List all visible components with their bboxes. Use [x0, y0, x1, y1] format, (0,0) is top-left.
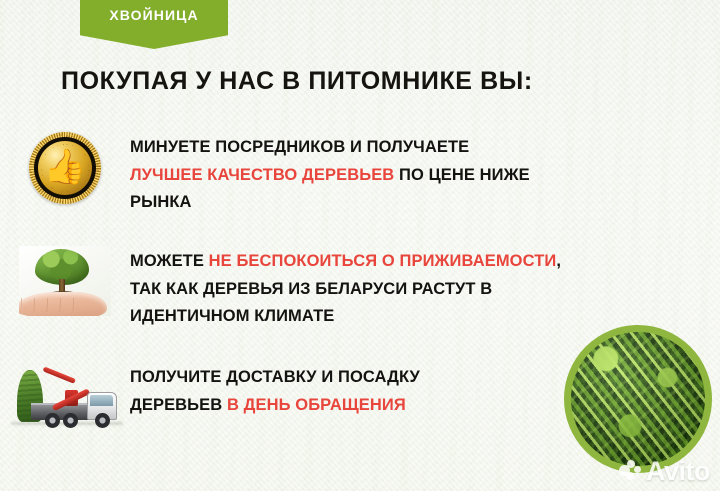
page-title: ПОКУПАЯ У НАС В ПИТОМНИКЕ ВЫ: — [61, 68, 533, 96]
gold-thumbs-up-medal-icon: 👍 — [29, 132, 101, 204]
benefit-icon-slot: 👍 — [0, 126, 130, 204]
benefit-line: РЫНКА — [130, 189, 720, 217]
benefit-icon-slot — [0, 240, 130, 316]
hand-holding-tree-icon — [19, 246, 111, 316]
benefit-text-segment: ИДЕНТИЧНОМ КЛИМАТЕ — [130, 307, 334, 325]
thuja-foliage-photo — [564, 325, 712, 473]
benefit-text-segment: РЫНКА — [130, 193, 192, 211]
benefit-icon-slot — [0, 356, 130, 434]
benefit-text: МОЖЕТЕ НЕ БЕСПОКОИТЬСЯ О ПРИЖИВАЕМОСТИ, … — [130, 240, 720, 331]
benefit-text-highlight: ЛУЧШЕЕ КАЧЕСТВО ДЕРЕВЬЕВ — [130, 166, 394, 184]
benefit-text-segment: МИНУЕТЕ ПОСРЕДНИКОВ И ПОЛУЧАЕТЕ — [130, 138, 469, 156]
benefit-text-segment: ТАК КАК ДЕРЕВЬЯ ИЗ БЕЛАРУСИ РАСТУТ В — [130, 280, 492, 298]
brand-name-label: ХВОЙНИЦА — [109, 8, 198, 22]
benefit-text: МИНУЕТЕ ПОСРЕДНИКОВ И ПОЛУЧАЕТЕ ЛУЧШЕЕ К… — [130, 126, 720, 217]
benefit-item: 👍 МИНУЕТЕ ПОСРЕДНИКОВ И ПОЛУЧАЕТЕ ЛУЧШЕЕ… — [0, 126, 720, 240]
benefit-line: МИНУЕТЕ ПОСРЕДНИКОВ И ПОЛУЧАЕТЕ — [130, 134, 720, 162]
benefit-text-segment: МОЖЕТЕ — [130, 252, 209, 270]
benefit-text-segment: , — [556, 252, 561, 270]
benefit-line: МОЖЕТЕ НЕ БЕСПОКОИТЬСЯ О ПРИЖИВАЕМОСТИ, — [130, 248, 720, 276]
benefit-text-segment: ДЕРЕВЬЕВ — [130, 396, 227, 414]
benefit-line: ТАК КАК ДЕРЕВЬЯ ИЗ БЕЛАРУСИ РАСТУТ В — [130, 276, 720, 304]
promo-poster: ХВОЙНИЦА ПОКУПАЯ У НАС В ПИТОМНИКЕ ВЫ: 👍… — [0, 0, 720, 491]
crane-truck-with-conifer-icon — [5, 362, 125, 434]
benefit-line: ЛУЧШЕЕ КАЧЕСТВО ДЕРЕВЬЕВ ПО ЦЕНЕ НИЖЕ — [130, 162, 720, 190]
thumbs-up-icon: 👍 — [44, 150, 86, 184]
benefit-text-segment: ПОЛУЧИТЕ ДОСТАВКУ И ПОСАДКУ — [130, 368, 420, 386]
benefit-text-segment: ПО ЦЕНЕ НИЖЕ — [394, 166, 529, 184]
benefit-text-highlight: НЕ БЕСПОКОИТЬСЯ О ПРИЖИВАЕМОСТИ — [209, 252, 557, 270]
benefit-text-highlight: В ДЕНЬ ОБРАЩЕНИЯ — [227, 396, 406, 414]
